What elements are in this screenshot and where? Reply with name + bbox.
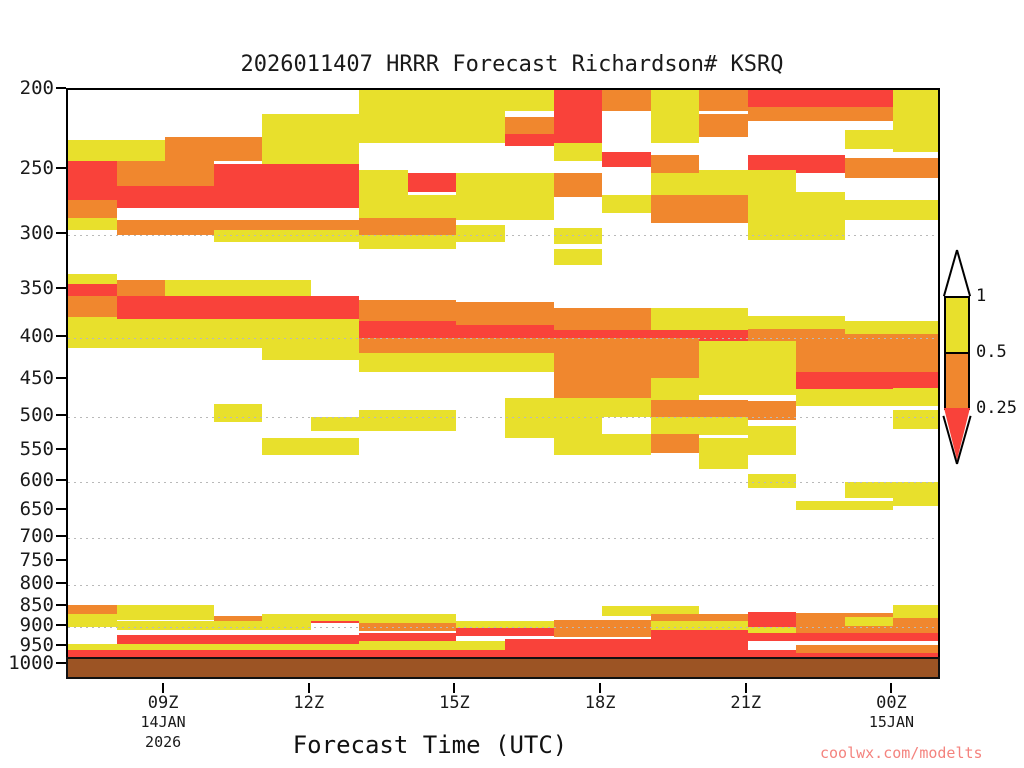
heatmap-cell (359, 410, 456, 431)
y-axis-label: 650 (20, 498, 54, 520)
heatmap-cell (214, 230, 360, 242)
heatmap-cell (796, 501, 893, 510)
terrain-ground-bar (66, 657, 940, 679)
heatmap-cell (68, 99, 214, 116)
y-axis-tick (56, 508, 66, 510)
heatmap-cell (699, 114, 748, 137)
x-axis-sublabel-date: 15JAN (831, 713, 951, 731)
y-axis-label: 700 (20, 525, 54, 547)
heatmap-cell (359, 614, 456, 623)
plot-area (66, 88, 940, 663)
x-axis-label: 09Z (103, 693, 223, 713)
y-axis-label: 750 (20, 549, 54, 571)
y-axis-tick (56, 377, 66, 379)
heatmap-cell (748, 220, 845, 239)
y-axis-tick (56, 232, 66, 234)
heatmap-cell (554, 173, 603, 198)
x-axis-label: 21Z (686, 693, 806, 713)
x-axis-tick (599, 683, 601, 693)
heatmap-cell (796, 389, 940, 406)
heatmap-cell (554, 111, 603, 134)
heatmap-cell (554, 338, 700, 352)
heatmap-cell (359, 338, 553, 354)
heatmap-cell (845, 321, 940, 334)
y-axis-tick (56, 644, 66, 646)
y-axis-tick (56, 448, 66, 450)
y-axis-label: 400 (20, 325, 54, 347)
heatmap-cell (554, 228, 603, 245)
heatmap-cell (68, 614, 117, 627)
heatmap-cell (893, 605, 940, 617)
heatmap-cell (554, 372, 651, 400)
heatmap-cell (117, 605, 214, 620)
watermark: coolwx.com/modelts (820, 744, 983, 762)
heatmap-cell (699, 438, 796, 455)
heatmap-cell (893, 90, 940, 121)
colorbar-label: 0.5 (976, 342, 1007, 362)
heatmap-cell (748, 107, 894, 120)
heatmap-cell (796, 645, 940, 652)
heatmap-cell (456, 197, 553, 220)
colorbar-segment-orange (944, 352, 970, 408)
heatmap-cell (651, 308, 748, 331)
heatmap-cell (214, 404, 263, 421)
heatmap-cell (68, 317, 117, 330)
heatmap-cell (845, 158, 940, 178)
heatmap-cell (651, 417, 748, 435)
y-axis-label: 350 (20, 277, 54, 299)
heatmap-cell (262, 348, 359, 360)
heatmap-cell (651, 195, 748, 223)
heatmap-cell (699, 90, 748, 111)
heatmap-cell (554, 90, 603, 111)
y-axis-label: 500 (20, 404, 54, 426)
heatmap-cell (651, 630, 748, 639)
heatmap-cell (68, 140, 165, 161)
heatmap-cell (748, 612, 797, 621)
heatmap-cell (117, 186, 214, 207)
y-axis-label: 300 (20, 222, 54, 244)
heatmap-cell (456, 173, 553, 198)
heatmap-cell (117, 621, 311, 630)
heatmap-cell (699, 341, 796, 365)
heatmap-cell (262, 114, 359, 140)
x-axis-label: 18Z (540, 693, 660, 713)
heatmap-cell (359, 90, 553, 111)
y-axis-tick (56, 335, 66, 337)
heatmap-cell (68, 330, 359, 348)
x-axis-tick (453, 683, 455, 693)
heatmap-cell (68, 296, 117, 317)
x-axis-label: 12Z (249, 693, 369, 713)
heatmap-cell (748, 633, 940, 641)
y-axis-label: 600 (20, 469, 54, 491)
heatmap-cell (748, 474, 797, 488)
y-axis-label: 550 (20, 438, 54, 460)
heatmap-cell (359, 235, 456, 249)
y-axis-tick (56, 535, 66, 537)
heatmap-cell (845, 617, 894, 626)
heatmap-cell (748, 401, 797, 420)
heatmap-cell (68, 218, 117, 230)
heatmap-cell (699, 365, 796, 395)
heatmap-cell (359, 321, 456, 337)
heatmap-cell (845, 200, 940, 220)
heatmap-cell (651, 155, 700, 172)
heatmap-cell (408, 173, 457, 192)
heatmap-cell (845, 130, 940, 149)
y-axis-tick (56, 582, 66, 584)
y-axis-tick (56, 167, 66, 169)
x-axis-label: 15Z (394, 693, 514, 713)
heatmap-cell (602, 90, 651, 111)
heatmap-cell (699, 455, 748, 469)
heatmap-cell (214, 164, 360, 208)
heatmap-cell (359, 300, 456, 323)
heatmap-cell (554, 434, 651, 455)
page-title: 2026011407 HRRR Forecast Richardson# KSR… (0, 52, 1024, 77)
heatmap-cell (359, 111, 505, 143)
x-axis-label: 00Z (831, 693, 951, 713)
heatmap-cell (893, 410, 940, 428)
y-axis-tick (56, 414, 66, 416)
heatmap-cell (602, 152, 651, 167)
heatmap-cell (456, 302, 553, 325)
x-axis-tick (308, 683, 310, 693)
heatmap-cell (456, 628, 553, 636)
heatmap-cell (554, 143, 603, 161)
heatmap-cell (651, 434, 700, 453)
x-axis-tick (890, 683, 892, 693)
heatmap-cell (359, 633, 456, 641)
heatmap-cell (505, 639, 748, 650)
heatmap-cells (68, 90, 938, 661)
y-axis-tick (56, 662, 66, 664)
heatmap-cell (893, 492, 940, 506)
heatmap-cell (651, 90, 700, 111)
y-axis-label: 800 (20, 572, 54, 594)
colorbar-label: 1 (976, 286, 986, 306)
heatmap-cell (68, 161, 117, 200)
y-axis-tick (56, 87, 66, 89)
heatmap-cell (651, 111, 700, 143)
heatmap-cell (554, 628, 651, 637)
heatmap-cell (359, 353, 553, 371)
heatmap-cell (117, 161, 214, 186)
heatmap-cell (165, 280, 311, 296)
y-axis-label: 250 (20, 157, 54, 179)
y-axis-label: 450 (20, 367, 54, 389)
y-axis-label: 850 (20, 594, 54, 616)
colorbar-divider (944, 352, 970, 354)
colorbar-legend[interactable]: 10.50.25 (944, 296, 970, 458)
y-axis-tick (56, 624, 66, 626)
x-axis-sublabel-date: 14JAN (103, 713, 223, 731)
colorbar-segment-yellow (944, 296, 970, 352)
heatmap-cell (359, 623, 456, 630)
heatmap-cell (796, 372, 940, 389)
heatmap-cell (505, 398, 651, 417)
heatmap-cell (262, 438, 359, 455)
colorbar-divider (944, 296, 970, 298)
x-axis-tick (745, 683, 747, 693)
heatmap-cell (117, 319, 360, 330)
heatmap-cell (311, 417, 360, 431)
heatmap-cell (456, 225, 505, 242)
heatmap-cell (554, 249, 603, 265)
y-axis-tick (56, 604, 66, 606)
heatmap-cell (117, 296, 360, 321)
heatmap-cell (748, 90, 894, 107)
x-axis-title: Forecast Time (UTC) (0, 731, 860, 759)
colorbar-label: 0.25 (976, 398, 1017, 418)
heatmap-cell (117, 635, 360, 644)
y-axis-tick (56, 479, 66, 481)
heatmap-cell (554, 308, 651, 331)
heatmap-cell (359, 170, 408, 195)
heatmap-cell (165, 137, 262, 161)
heatmap-cell (359, 218, 456, 235)
y-axis-label: 200 (20, 77, 54, 99)
y-axis-tick (56, 559, 66, 561)
heatmap-cell (602, 195, 651, 213)
chart-root: 2026011407 HRRR Forecast Richardson# KSR… (0, 0, 1024, 768)
heatmap-cell (651, 400, 748, 419)
y-axis-label: 1000 (8, 652, 54, 674)
x-axis-tick (162, 683, 164, 693)
y-axis-tick (56, 287, 66, 289)
